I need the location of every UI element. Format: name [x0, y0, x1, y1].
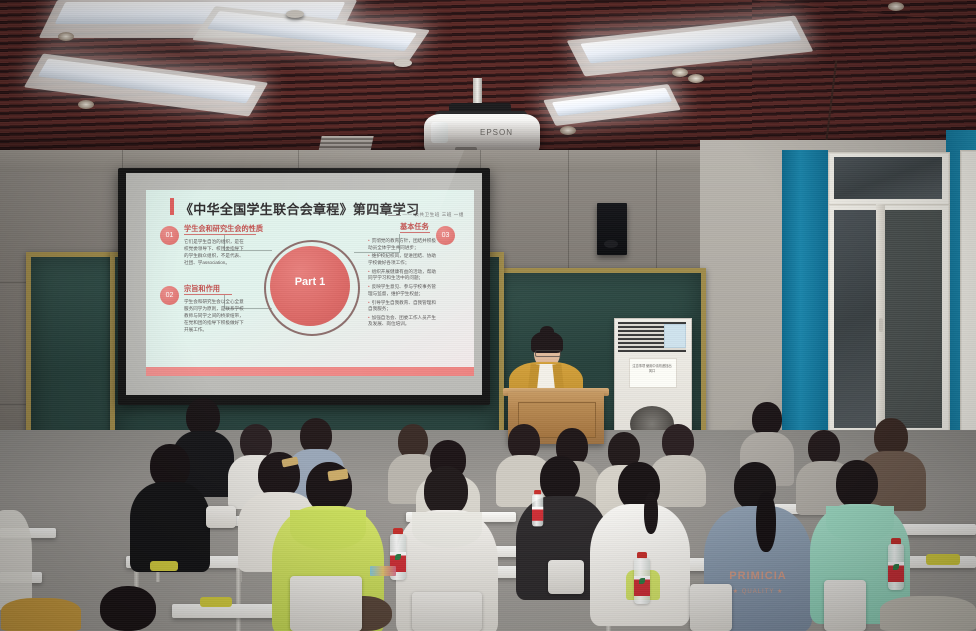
chair-seat-yellow	[200, 597, 232, 607]
slide-heading-01: 学生会和研究生会的性质	[184, 224, 263, 234]
presenter-glasses	[535, 350, 561, 357]
slide-heading-01-underline	[184, 234, 256, 235]
slide-center-label: Part 1	[270, 276, 350, 288]
student-torso	[880, 596, 976, 631]
chair-seat-yellow	[150, 561, 178, 571]
bottle-leaf-icon	[893, 564, 899, 570]
blue-pillar-left	[782, 150, 828, 450]
ac-display-badge	[664, 324, 686, 348]
student-head	[836, 460, 878, 508]
student-head	[752, 402, 782, 436]
ac-notice-text: 注意事项 使用中请勿遮挡出风口	[631, 364, 673, 374]
window-pane-left	[834, 210, 878, 428]
window-handle[interactable]	[879, 318, 883, 332]
student-chair	[290, 576, 362, 631]
slide-heading-02: 宗旨和作用	[184, 284, 220, 294]
slide-subtitle-dash	[388, 215, 401, 216]
student-chair	[412, 592, 482, 631]
student-head	[424, 466, 468, 516]
window-far-right	[960, 150, 976, 442]
student-torso	[0, 510, 32, 610]
student-chair	[690, 584, 732, 631]
slide-footer-bar	[146, 367, 474, 376]
window-transom-glass	[834, 157, 942, 199]
slide-body-01: 它们是学生自治的组织，是在校党委领导下、校团委指导下的学生群众组织，不是代表、社…	[184, 238, 244, 266]
lecture-room-photo: EPSON 注意事项 使用中请勿遮挡出风口 《中华全国	[0, 0, 976, 631]
slide-heading-02-underline	[184, 294, 232, 295]
slide-bullet: 反映学生意见、参与学校事务管理与监督，维护学生权益；	[368, 284, 440, 297]
student-head	[100, 586, 156, 631]
student-torso	[1, 598, 81, 631]
smoke-detector-1	[394, 59, 412, 67]
slide-subtitle: —— 公共卫生班 三班 一组	[402, 212, 464, 218]
bottle-leaf-icon	[395, 554, 401, 560]
slide-badge-01: 01	[160, 226, 179, 245]
student-chair	[824, 580, 866, 631]
stationery-items[interactable]	[370, 566, 396, 576]
recessed-downlight-3	[672, 68, 688, 77]
speaker-cone	[604, 240, 618, 248]
hoodie-hood	[826, 506, 894, 542]
smoke-detector-2	[286, 10, 304, 18]
recessed-downlight-2	[78, 100, 94, 109]
chair-seat-yellow	[926, 554, 960, 565]
slide-bullet-list: 贯彻党的教育方针，团结并积极动员全体学生共同进步； 维护校纪校风，促进团结、协助…	[362, 238, 440, 328]
slide-heading-03: 基本任务	[400, 222, 429, 232]
slide-bullet: 引导学生自我教育、自我管理和自我服务；	[368, 300, 440, 313]
denim-print-line1: PRIMICIA	[712, 570, 804, 582]
bottle-leaf-icon	[639, 578, 645, 584]
slide-bullet: 组织开展健康有益的活动，帮助同学学习和生活中的问题；	[368, 269, 440, 282]
hoodie-hood	[290, 510, 366, 550]
slide-bullet: 加强自治会、团委工作人员产生及发展、岗位培训。	[368, 315, 440, 328]
window-screen-right	[884, 210, 942, 428]
recessed-downlight-1	[58, 32, 74, 41]
slide-title: 《中华全国学生联合会章程》第四章学习	[180, 199, 419, 218]
slide-title-accent-bar	[170, 198, 174, 215]
desk-leg	[236, 568, 241, 631]
presenter-hair-bun	[540, 326, 554, 337]
slide-heading-03-underline	[400, 232, 430, 233]
slide-bullet: 维护校纪校风，促进团结、协助学校做好各项工作；	[368, 253, 440, 266]
slide-bullet: 贯彻党的教育方针，团结并积极动员全体学生共同进步；	[368, 238, 440, 251]
slide-body-02: 学生会和研究生会以全心全意服务同学为原则，是联系学校教师与同学之间的桥梁纽带，在…	[184, 298, 244, 333]
student-chair	[548, 560, 584, 594]
recessed-downlight-4	[688, 74, 704, 83]
presentation-slide: 《中华全国学生联合会章程》第四章学习 —— 公共卫生班 三班 一组 Part 1…	[146, 190, 474, 376]
student-torso	[130, 482, 210, 572]
student-chair	[206, 506, 236, 528]
slide-bullets-03: 贯彻党的教育方针，团结并积极动员全体学生共同进步； 维护校纪校风，促进团结、协助…	[362, 238, 440, 330]
recessed-downlight-6	[888, 2, 904, 11]
bottle-label	[532, 507, 543, 521]
hair-ponytail	[756, 492, 776, 552]
hoodie-hood	[412, 512, 482, 548]
hair-ponytail	[644, 492, 658, 534]
slide-badge-02: 02	[160, 286, 179, 305]
